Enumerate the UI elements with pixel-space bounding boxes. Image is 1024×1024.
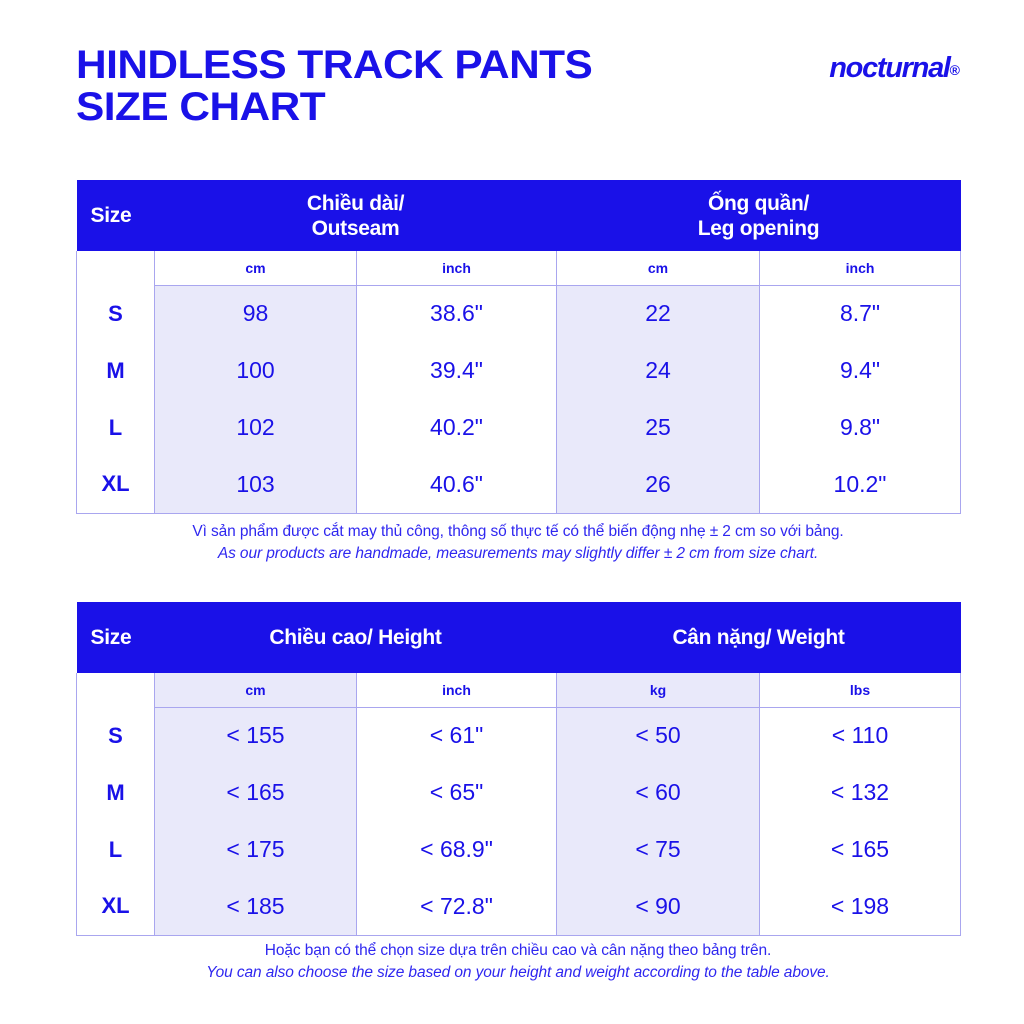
header-group-weight: Cân nặng/ Weight — [557, 602, 961, 673]
cell-weight-kg: < 60 — [557, 764, 760, 821]
header-group-outseam-line2: Outseam — [155, 216, 557, 241]
registered-trademark-icon: ® — [950, 62, 960, 78]
note-handmade-vi: Vì sản phẩm được cắt may thủ công, thông… — [76, 521, 960, 543]
page-header: HINDLESS TRACK PANTS SIZE CHART nocturna… — [76, 44, 960, 144]
table-body: S < 155 < 61" < 50 < 110 M < 165 < 65" <… — [77, 707, 961, 935]
cell-height-inch: < 72.8" — [357, 878, 557, 935]
measurement-table-outseam: Size Chiều dài/ Outseam Ống quần/ Leg op… — [76, 180, 961, 514]
brand-logo: nocturnal® — [829, 52, 960, 85]
note-size-guidance-vi: Hoặc bạn có thể chọn size dựa trên chiều… — [76, 940, 960, 962]
unit-leg-inch: inch — [760, 251, 961, 285]
unit-weight-lbs: lbs — [760, 673, 961, 707]
header-group-outseam: Chiều dài/ Outseam — [155, 180, 557, 251]
size-chart-page: HINDLESS TRACK PANTS SIZE CHART nocturna… — [0, 0, 1024, 1024]
cell-height-cm: < 165 — [155, 764, 357, 821]
table-row: M < 165 < 65" < 60 < 132 — [77, 764, 961, 821]
cell-leg-inch: 10.2" — [760, 456, 961, 513]
header-group-outseam-line1: Chiều dài/ — [155, 191, 557, 216]
header-size: Size — [77, 180, 155, 251]
note-size-guidance: Hoặc bạn có thể chọn size dựa trên chiều… — [76, 940, 960, 984]
cell-size: S — [77, 285, 155, 342]
cell-outseam-inch: 39.4" — [357, 342, 557, 399]
cell-leg-inch: 9.4" — [760, 342, 961, 399]
measurement-table-height-weight: Size Chiều cao/ Height Cân nặng/ Weight … — [76, 602, 961, 936]
table-head: Size Chiều dài/ Outseam Ống quần/ Leg op… — [77, 180, 961, 285]
unit-outseam-inch: inch — [357, 251, 557, 285]
cell-outseam-cm: 98 — [155, 285, 357, 342]
unit-leg-cm: cm — [557, 251, 760, 285]
cell-size: L — [77, 821, 155, 878]
unit-outseam-cm: cm — [155, 251, 357, 285]
cell-size: XL — [77, 456, 155, 513]
cell-leg-cm: 26 — [557, 456, 760, 513]
table-row: S < 155 < 61" < 50 < 110 — [77, 707, 961, 764]
brand-name: nocturnal — [829, 52, 949, 84]
table-header-band: Size Chiều cao/ Height Cân nặng/ Weight — [77, 602, 961, 673]
table-row: S 98 38.6" 22 8.7" — [77, 285, 961, 342]
cell-height-inch: < 65" — [357, 764, 557, 821]
cell-size: M — [77, 764, 155, 821]
table-header-band: Size Chiều dài/ Outseam Ống quần/ Leg op… — [77, 180, 961, 251]
unit-height-cm: cm — [155, 673, 357, 707]
cell-weight-kg: < 75 — [557, 821, 760, 878]
cell-weight-lbs: < 110 — [760, 707, 961, 764]
table-row: XL < 185 < 72.8" < 90 < 198 — [77, 878, 961, 935]
header-group-leg-opening: Ống quần/ Leg opening — [557, 180, 961, 251]
note-handmade: Vì sản phẩm được cắt may thủ công, thông… — [76, 521, 960, 565]
table-subheader-units: cm inch kg lbs — [77, 673, 961, 707]
cell-size: M — [77, 342, 155, 399]
cell-height-inch: < 61" — [357, 707, 557, 764]
cell-leg-cm: 22 — [557, 285, 760, 342]
table-row: L 102 40.2" 25 9.8" — [77, 399, 961, 456]
cell-outseam-cm: 102 — [155, 399, 357, 456]
cell-height-cm: < 175 — [155, 821, 357, 878]
header-group-leg-opening-line1: Ống quần/ — [557, 191, 961, 216]
table-subheader-units: cm inch cm inch — [77, 251, 961, 285]
note-size-guidance-en: You can also choose the size based on yo… — [76, 962, 960, 984]
cell-weight-lbs: < 198 — [760, 878, 961, 935]
title-line-2: SIZE CHART — [76, 86, 592, 128]
header-group-height: Chiều cao/ Height — [155, 602, 557, 673]
cell-weight-lbs: < 165 — [760, 821, 961, 878]
cell-height-inch: < 68.9" — [357, 821, 557, 878]
header-group-height-line1: Chiều cao/ Height — [155, 625, 557, 650]
cell-outseam-cm: 100 — [155, 342, 357, 399]
header-size: Size — [77, 602, 155, 673]
unit-spacer — [77, 673, 155, 707]
cell-leg-inch: 8.7" — [760, 285, 961, 342]
page-title: HINDLESS TRACK PANTS SIZE CHART — [76, 44, 563, 128]
cell-height-cm: < 155 — [155, 707, 357, 764]
unit-weight-kg: kg — [557, 673, 760, 707]
cell-leg-cm: 25 — [557, 399, 760, 456]
cell-size: XL — [77, 878, 155, 935]
cell-leg-cm: 24 — [557, 342, 760, 399]
note-handmade-en: As our products are handmade, measuremen… — [76, 543, 960, 565]
cell-outseam-inch: 38.6" — [357, 285, 557, 342]
table-body: S 98 38.6" 22 8.7" M 100 39.4" 24 9.4" L… — [77, 285, 961, 513]
cell-weight-lbs: < 132 — [760, 764, 961, 821]
cell-size: L — [77, 399, 155, 456]
cell-size: S — [77, 707, 155, 764]
title-line-1: HINDLESS TRACK PANTS — [76, 44, 592, 86]
header-group-leg-opening-line2: Leg opening — [557, 216, 961, 241]
table-row: XL 103 40.6" 26 10.2" — [77, 456, 961, 513]
table-row: M 100 39.4" 24 9.4" — [77, 342, 961, 399]
unit-spacer — [77, 251, 155, 285]
cell-weight-kg: < 90 — [557, 878, 760, 935]
table-row: L < 175 < 68.9" < 75 < 165 — [77, 821, 961, 878]
cell-outseam-inch: 40.6" — [357, 456, 557, 513]
cell-height-cm: < 185 — [155, 878, 357, 935]
table-head: Size Chiều cao/ Height Cân nặng/ Weight … — [77, 602, 961, 707]
cell-outseam-inch: 40.2" — [357, 399, 557, 456]
cell-leg-inch: 9.8" — [760, 399, 961, 456]
header-group-weight-line1: Cân nặng/ Weight — [557, 625, 961, 650]
cell-outseam-cm: 103 — [155, 456, 357, 513]
unit-height-inch: inch — [357, 673, 557, 707]
cell-weight-kg: < 50 — [557, 707, 760, 764]
